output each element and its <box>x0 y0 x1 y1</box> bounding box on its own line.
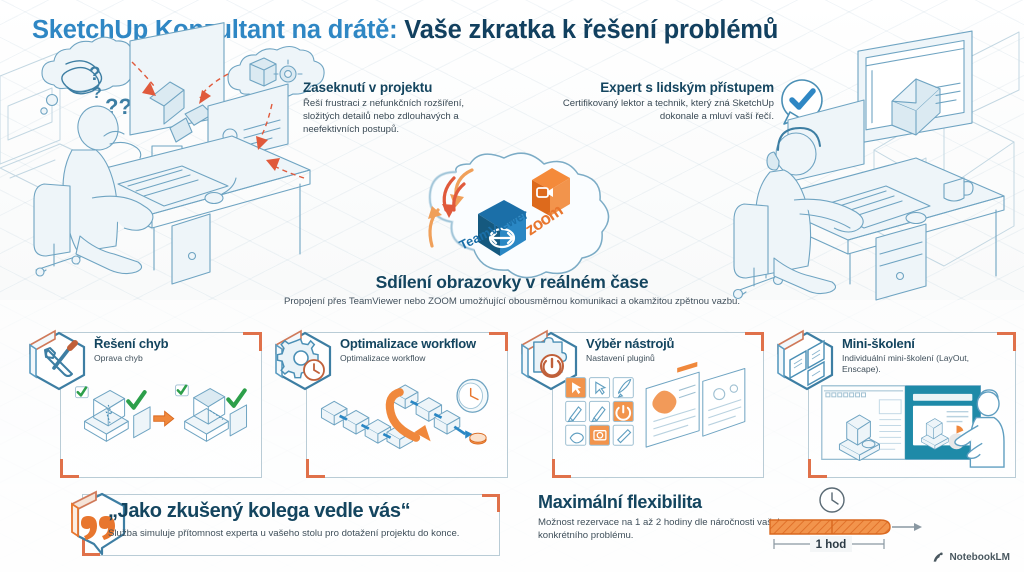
clock-icon <box>820 488 844 512</box>
card-errors-text: Řešení chyb Oprava chyb <box>94 336 256 364</box>
timeline-label: 1 hod <box>816 539 847 551</box>
card-workflow[interactable]: Optimalizace workflow Optimalizace workf… <box>268 330 508 478</box>
card-training[interactable]: Mini-školení Individuální mini-školení (… <box>770 330 1016 478</box>
card-workflow-artwork <box>316 374 498 458</box>
callout-stuck-heading: Zaseknutí v projektu <box>303 80 503 95</box>
watermark: NotebookLM <box>932 551 1010 564</box>
card-tools-text: Výběr nástrojů Nastavení pluginů <box>586 336 758 364</box>
tool-palette-grid <box>566 378 634 446</box>
center-heading: Sdílení obrazovky v reálném čase <box>0 272 1024 293</box>
card-errors-artwork <box>70 374 252 458</box>
center-subheading: Propojení přes TeamViewer nebo ZOOM umož… <box>0 296 1024 307</box>
card-workflow-heading: Optimalizace workflow <box>340 336 502 351</box>
page-title-part2: Vaše zkratka k řešení problémů <box>397 16 778 44</box>
card-errors-body: Oprava chyb <box>94 353 256 364</box>
card-errors[interactable]: Řešení chyb Oprava chyb <box>22 330 262 478</box>
watermark-label: NotebookLM <box>949 552 1010 563</box>
card-tools-heading: Výběr nástrojů <box>586 336 758 351</box>
card-errors-heading: Řešení chyb <box>94 336 256 351</box>
flexibility-block: Maximální flexibilita Možnost rezervace … <box>538 492 798 542</box>
flexibility-body: Možnost rezervace na 1 až 2 hodiny dle n… <box>538 516 798 542</box>
quote-block: „Jako zkušený kolega vedle vás“ Služba s… <box>30 492 500 560</box>
bubble-question-1: ? <box>89 64 101 85</box>
card-training-artwork <box>818 382 1006 469</box>
bubble-question-2: ? <box>92 85 102 102</box>
card-training-body: Individuální mini-školení (LayOut, Ensca… <box>842 353 1010 375</box>
cloud-screen-sharing-illustration: TeamViewer zoom <box>420 128 610 268</box>
tool-panels <box>646 362 745 447</box>
frustrated-user-illustration: ? ? ?? <box>32 58 308 276</box>
notebooklm-icon <box>932 551 945 564</box>
flexibility-heading: Maximální flexibilita <box>538 492 798 513</box>
card-training-heading: Mini-školení <box>842 336 1010 351</box>
card-tools[interactable]: Výběr nástrojů Nastavení pluginů <box>514 330 764 478</box>
quote-body: Služba simuluje přítomnost experta u vaš… <box>108 528 459 539</box>
card-workflow-text: Optimalizace workflow Optimalizace workf… <box>340 336 502 364</box>
card-tools-artwork <box>562 374 754 458</box>
card-training-text: Mini-školení Individuální mini-školení (… <box>842 336 1010 375</box>
timeline-illustration: 1 hod <box>770 486 960 556</box>
quote-heading: „Jako zkušený kolega vedle vás“ <box>108 500 410 523</box>
card-workflow-body: Optimalizace workflow <box>340 353 502 364</box>
infographic-canvas: SketchUp Konzultant na drátě: Vaše zkrat… <box>0 0 1024 572</box>
card-tools-body: Nastavení pluginů <box>586 353 758 364</box>
expert-consultant-illustration <box>740 72 1024 290</box>
workflow-clock <box>457 379 488 412</box>
center-section: Sdílení obrazovky v reálném čase Propoje… <box>0 272 1024 307</box>
